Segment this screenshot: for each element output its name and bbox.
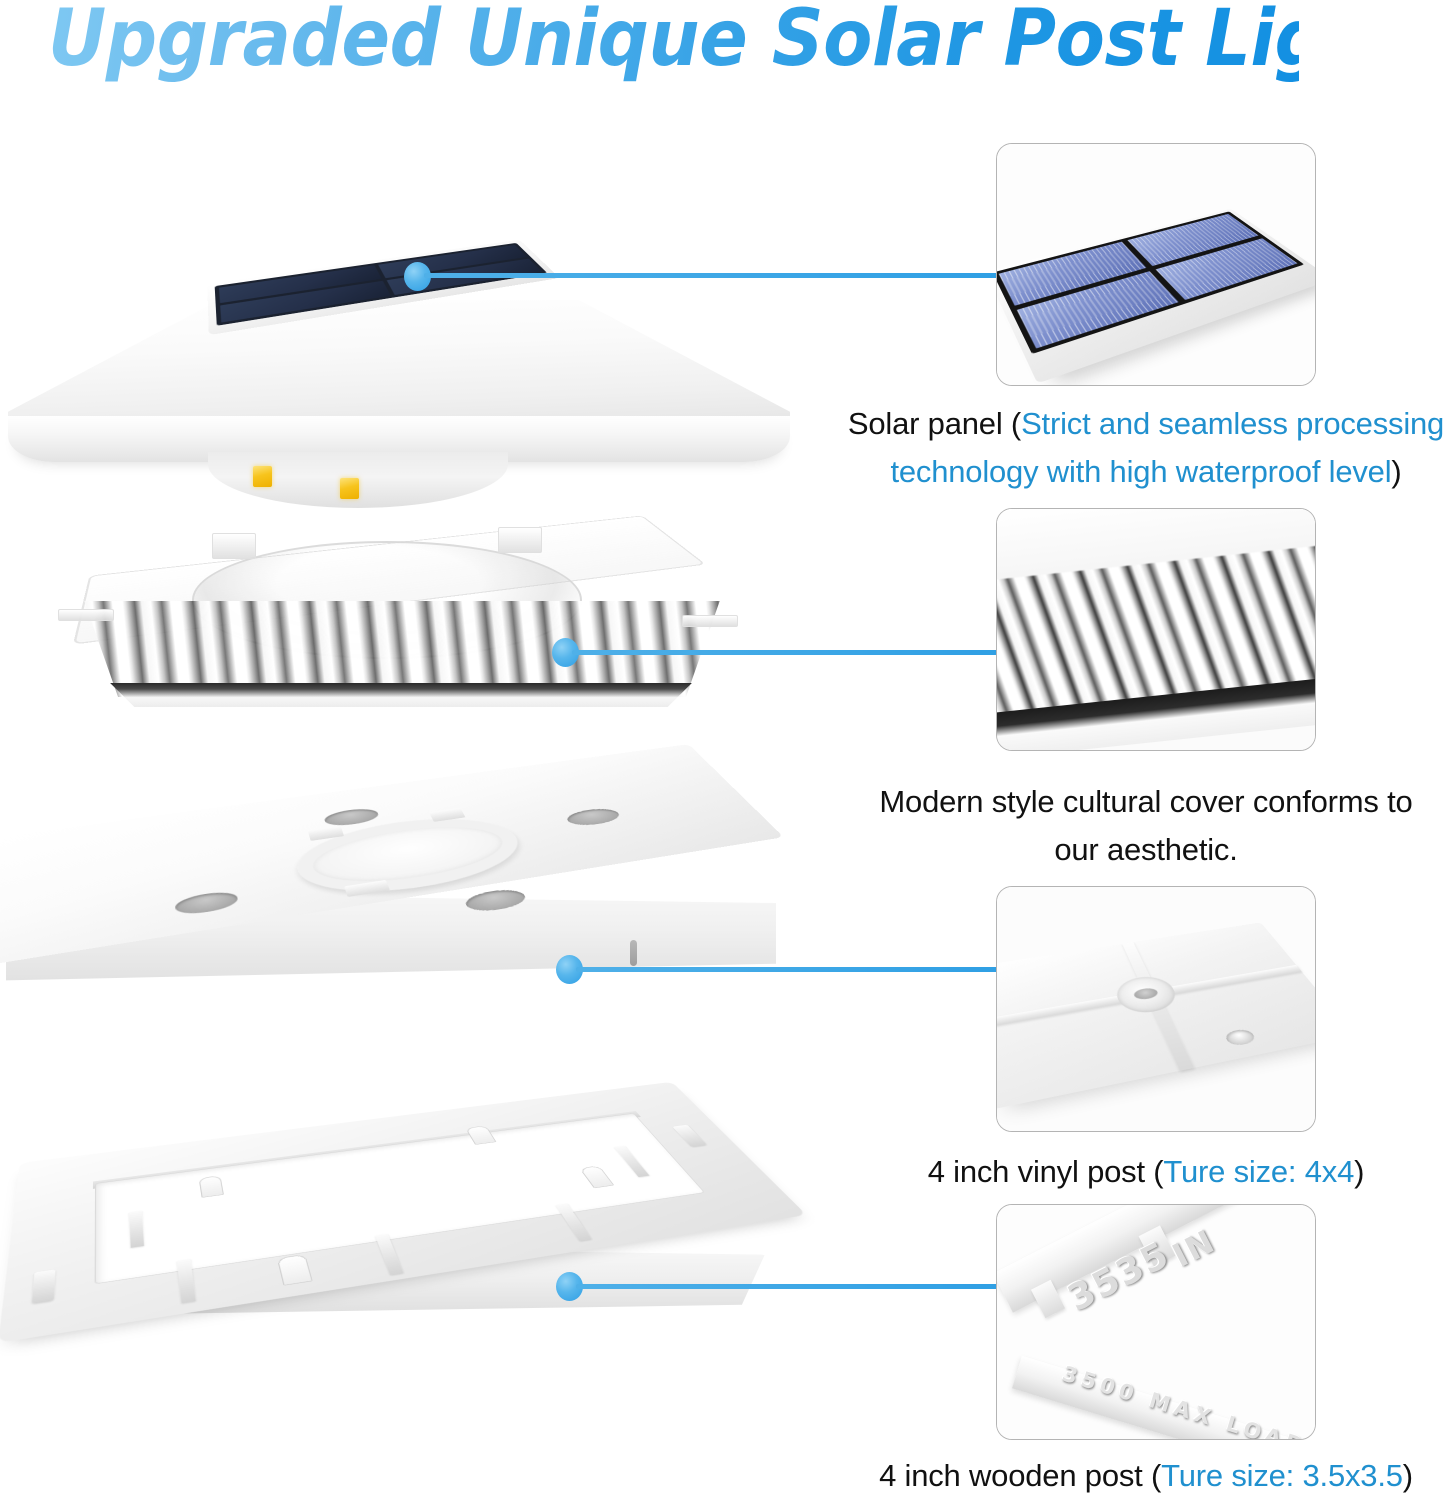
solar-panel-housing <box>996 209 1316 384</box>
solar-panel-closeup-image <box>997 144 1315 385</box>
caption-suffix: ) <box>1391 454 1401 489</box>
led-chip-left <box>253 466 272 487</box>
caption-highlight: Ture size: 4x4 <box>1163 1154 1354 1189</box>
glass-tab <box>212 533 256 559</box>
caption-suffix: ) <box>1403 1458 1413 1493</box>
caption-vinyl-post: 4 inch vinyl post (Ture size: 4x4) <box>846 1148 1446 1196</box>
detail-box-vinyl-post <box>996 886 1316 1132</box>
caption-highlight-1: Strict and seamless processing <box>1021 406 1444 441</box>
glass-cover-bottom-rim <box>98 683 704 707</box>
caption-prefix: Solar panel ( <box>848 406 1021 441</box>
callout-line-vinyl-post <box>576 967 1004 972</box>
center-boss <box>1111 973 1182 1017</box>
glass-cover-textured-wall <box>64 601 740 697</box>
solar-panel-grid <box>996 211 1304 354</box>
callout-line-wooden-post <box>576 1284 1004 1289</box>
screw-hole <box>323 807 381 828</box>
caption-prefix: 4 inch vinyl post ( <box>928 1154 1164 1189</box>
caption-prefix: 4 inch wooden post ( <box>879 1458 1161 1493</box>
frame-corner-tab <box>32 1269 56 1304</box>
cap-pyramid-body <box>8 300 790 430</box>
part-adapter-frame <box>8 1048 808 1368</box>
glass-tab <box>682 615 738 627</box>
led-chip-right <box>340 478 359 499</box>
caption-line-2: our aesthetic. <box>1054 832 1237 867</box>
glass-tab <box>498 527 542 553</box>
part-glass-cover <box>42 505 762 735</box>
page-title: Upgraded Unique Solar Post Lights <box>48 0 1299 82</box>
ring-notch <box>308 826 345 841</box>
part-base-plate <box>0 742 800 1042</box>
glass-texture-closeup-image <box>997 509 1315 750</box>
vinyl-post-underside <box>996 922 1316 1109</box>
caption-highlight: Ture size: 3.5x3.5 <box>1161 1458 1403 1493</box>
infographic-page: Upgraded Unique Solar Post Lights <box>0 0 1447 1500</box>
caption-suffix: ) <box>1354 1154 1364 1189</box>
caption-wooden-post: 4 inch wooden post (Ture size: 3.5x3.5) <box>846 1452 1446 1500</box>
glass-tab <box>58 609 114 621</box>
wooden-post-emboss-closeup-image: 3535 IN 3500 MAX LOAD 4.4 lb <box>997 1205 1315 1439</box>
screw-hole <box>1223 1028 1258 1047</box>
caption-highlight-2: technology with high waterproof level <box>890 454 1391 489</box>
vinyl-post-underside-closeup-image <box>997 887 1315 1131</box>
screw-hole <box>175 889 240 917</box>
base-plate-cable-slot <box>630 940 637 966</box>
caption-solar-panel: Solar panel (Strict and seamless process… <box>846 400 1446 496</box>
caption-cultural-cover: Modern style cultural cover conforms to … <box>846 778 1446 874</box>
detail-box-wooden-post: 3535 IN 3500 MAX LOAD 4.4 lb <box>996 1204 1316 1440</box>
detail-box-cultural-cover <box>996 508 1316 751</box>
detail-box-solar-panel <box>996 143 1316 386</box>
screw-hole <box>563 806 624 827</box>
callout-line-solar-panel <box>424 273 1004 278</box>
callout-line-cultural-cover <box>572 650 1004 655</box>
ring-notch <box>429 808 466 822</box>
caption-line-1: Modern style cultural cover conforms to <box>879 784 1412 819</box>
